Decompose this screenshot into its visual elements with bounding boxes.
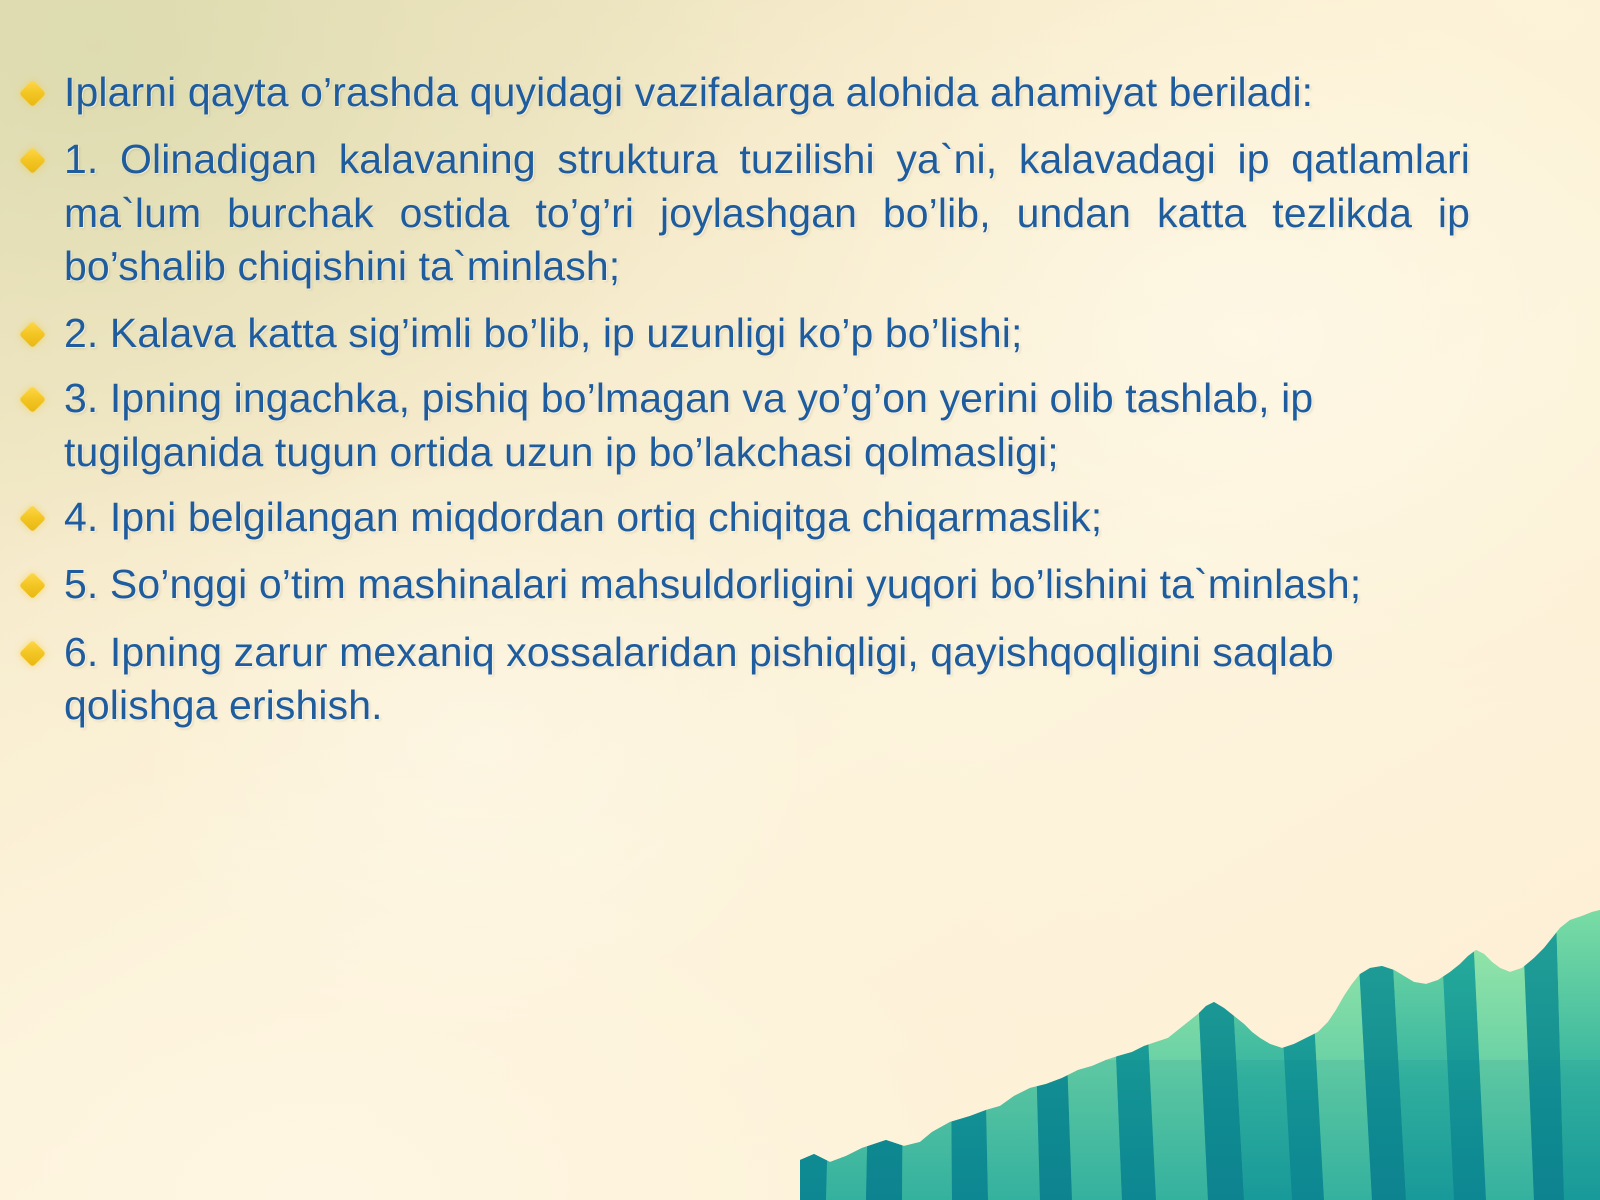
diamond-bullet-icon bbox=[0, 372, 64, 409]
list-item: 6. Ipning zarur mexaniq xossalaridan pis… bbox=[0, 626, 1470, 733]
diamond-bullet-icon bbox=[0, 626, 64, 663]
list-item: 3. Ipning ingachka, pishiq bo’lmagan va … bbox=[0, 372, 1470, 479]
diamond-bullet-icon bbox=[0, 133, 64, 170]
list-item: Iplarni qayta o’rashda quyidagi vazifala… bbox=[0, 66, 1470, 119]
list-item: 2. Kalava katta sig’imli bo’lib, ip uzun… bbox=[0, 307, 1470, 360]
mountain-bands bbox=[800, 910, 1600, 1200]
bullet-text: 1. Olinadigan kalavaning struktura tuzil… bbox=[64, 133, 1470, 293]
bullet-list: Iplarni qayta o’rashda quyidagi vazifala… bbox=[0, 66, 1470, 732]
bullet-text: 4. Ipni belgilangan miqdordan ortiq chiq… bbox=[64, 491, 1470, 544]
diamond-bullet-icon bbox=[0, 491, 64, 528]
diamond-bullet-icon bbox=[0, 558, 64, 595]
list-item: 1. Olinadigan kalavaning struktura tuzil… bbox=[0, 133, 1470, 293]
bullet-text: Iplarni qayta o’rashda quyidagi vazifala… bbox=[64, 66, 1470, 119]
list-item: 4. Ipni belgilangan miqdordan ortiq chiq… bbox=[0, 491, 1470, 544]
bullet-text: 5. So’nggi o’tim mashinalari mahsuldorli… bbox=[64, 558, 1470, 611]
bullet-text: 2. Kalava katta sig’imli bo’lib, ip uzun… bbox=[64, 307, 1470, 360]
bullet-text: 3. Ipning ingachka, pishiq bo’lmagan va … bbox=[64, 372, 1470, 479]
diamond-bullet-icon bbox=[0, 66, 64, 103]
diamond-bullet-icon bbox=[0, 307, 64, 344]
list-item: 5. So’nggi o’tim mashinalari mahsuldorli… bbox=[0, 558, 1470, 611]
mountain-ridge-graphic bbox=[800, 910, 1600, 1200]
bullet-text: 6. Ipning zarur mexaniq xossalaridan pis… bbox=[64, 626, 1470, 733]
slide-canvas: Iplarni qayta o’rashda quyidagi vazifala… bbox=[0, 0, 1600, 1200]
